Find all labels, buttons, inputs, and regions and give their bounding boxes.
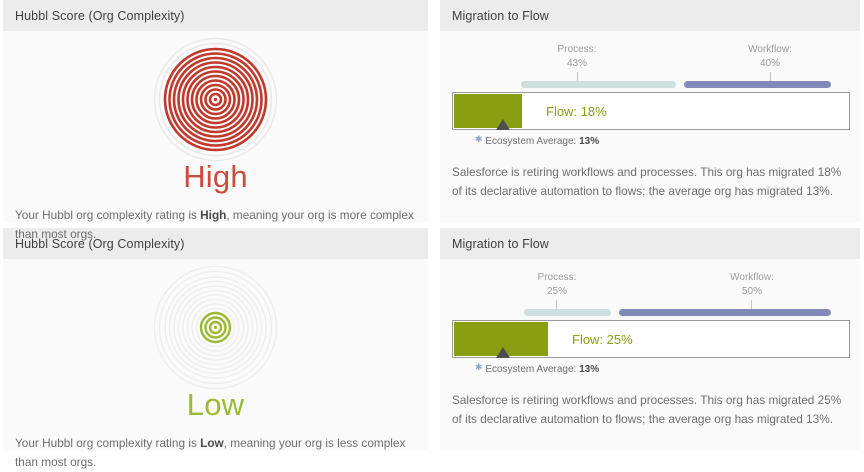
flow-bar-label: Flow: 25% bbox=[572, 321, 633, 357]
flow-bar-fill bbox=[454, 94, 522, 128]
triangle-up-marker bbox=[496, 347, 510, 358]
segment-labels: Process: 25% Workflow: 50% bbox=[452, 269, 850, 305]
ecosystem-average-text: Ecosystem Average: bbox=[485, 136, 579, 147]
panel-slot-hubbl-score-low: Hubbl Score (Org Complexity) bbox=[0, 228, 432, 457]
score-description: Your Hubbl org complexity rating is Low,… bbox=[15, 434, 416, 472]
dashboard-row-1: Hubbl Score (Org Complexity) bbox=[0, 0, 864, 228]
panel-header: Migration to Flow bbox=[440, 0, 860, 31]
panel-slot-migration-to-flow-1: Migration to Flow Process: 43% Workflow:… bbox=[432, 0, 864, 228]
segment-bar-workflow bbox=[619, 309, 831, 316]
migration-to-flow-panel: Migration to Flow Process: 25% Workflow:… bbox=[440, 228, 860, 451]
concentric-target-icon bbox=[153, 265, 278, 390]
panel-header: Migration to Flow bbox=[440, 228, 860, 259]
segment-label-process-value: 43% bbox=[479, 57, 675, 71]
hubbl-score-panel: Hubbl Score (Org Complexity) bbox=[3, 228, 428, 451]
concentric-target-icon bbox=[153, 37, 278, 162]
ecosystem-average-value: 13% bbox=[579, 364, 599, 375]
panel-header: Hubbl Score (Org Complexity) bbox=[3, 0, 428, 31]
ecosystem-average-label: ✱ Ecosystem Average: 13% bbox=[475, 134, 599, 147]
segment-label-workflow-value: 40% bbox=[679, 57, 861, 71]
migration-description: Salesforce is retiring workflows and pro… bbox=[452, 391, 846, 429]
segment-labels: Process: 43% Workflow: 40% bbox=[452, 41, 850, 77]
segment-bar-process bbox=[524, 309, 611, 316]
asterisk-icon: ✱ bbox=[475, 134, 483, 144]
panel-body: Low Your Hubbl org complexity rating is … bbox=[3, 259, 428, 472]
panel-title: Hubbl Score (Org Complexity) bbox=[15, 9, 185, 23]
score-rating-label: Low bbox=[187, 388, 244, 422]
score-description: Your Hubbl org complexity rating is High… bbox=[15, 206, 416, 244]
segment-label-process-name: Process: bbox=[538, 272, 577, 283]
segment-label-workflow: Workflow: 50% bbox=[642, 271, 862, 299]
flow-bar-container: Flow: 25% bbox=[452, 320, 850, 358]
hubbl-score-panel: Hubbl Score (Org Complexity) bbox=[3, 0, 428, 222]
flow-bar-container: Flow: 18% bbox=[452, 92, 850, 130]
segment-label-workflow-value: 50% bbox=[642, 285, 862, 299]
segment-label-process-value: 25% bbox=[479, 285, 635, 299]
score-description-before: Your Hubbl org complexity rating is bbox=[15, 208, 200, 222]
flow-bar-label: Flow: 18% bbox=[546, 93, 607, 129]
migration-chart: Process: 43% Workflow: 40% bbox=[452, 41, 850, 157]
panel-body: Process: 25% Workflow: 50% bbox=[440, 259, 860, 451]
score-description-rating: Low bbox=[200, 436, 224, 450]
score-description-before: Your Hubbl org complexity rating is bbox=[15, 436, 200, 450]
panel-body: High Your Hubbl org complexity rating is… bbox=[3, 31, 428, 244]
ecosystem-average-value: 13% bbox=[579, 136, 599, 147]
segment-label-workflow: Workflow: 40% bbox=[679, 43, 861, 71]
migration-chart: Process: 25% Workflow: 50% bbox=[452, 269, 850, 385]
panel-slot-hubbl-score-high: Hubbl Score (Org Complexity) bbox=[0, 0, 432, 228]
panel-slot-migration-to-flow-2: Migration to Flow Process: 25% Workflow:… bbox=[432, 228, 864, 457]
ecosystem-average-text: Ecosystem Average: bbox=[485, 364, 579, 375]
panel-title: Migration to Flow bbox=[452, 9, 549, 23]
segment-bar-workflow bbox=[684, 81, 831, 88]
score-rating-label: High bbox=[183, 160, 248, 194]
migration-description: Salesforce is retiring workflows and pro… bbox=[452, 163, 846, 201]
score-description-rating: High bbox=[200, 208, 226, 222]
segment-label-workflow-name: Workflow: bbox=[730, 272, 774, 283]
ecosystem-average-label: ✱ Ecosystem Average: 13% bbox=[475, 362, 599, 375]
segment-label-process: Process: 43% bbox=[479, 43, 675, 71]
panel-body: Process: 43% Workflow: 40% bbox=[440, 31, 860, 222]
dashboard-row-2: Hubbl Score (Org Complexity) bbox=[0, 228, 864, 457]
segment-bar-process bbox=[521, 81, 676, 88]
segment-label-process-name: Process: bbox=[558, 44, 597, 55]
triangle-up-marker bbox=[496, 119, 510, 130]
asterisk-icon: ✱ bbox=[475, 362, 483, 372]
migration-to-flow-panel: Migration to Flow Process: 43% Workflow:… bbox=[440, 0, 860, 222]
segment-label-workflow-name: Workflow: bbox=[748, 44, 792, 55]
panel-title: Migration to Flow bbox=[452, 237, 549, 251]
dashboard-grid: Hubbl Score (Org Complexity) bbox=[0, 0, 864, 457]
segment-label-process: Process: 25% bbox=[479, 271, 635, 299]
